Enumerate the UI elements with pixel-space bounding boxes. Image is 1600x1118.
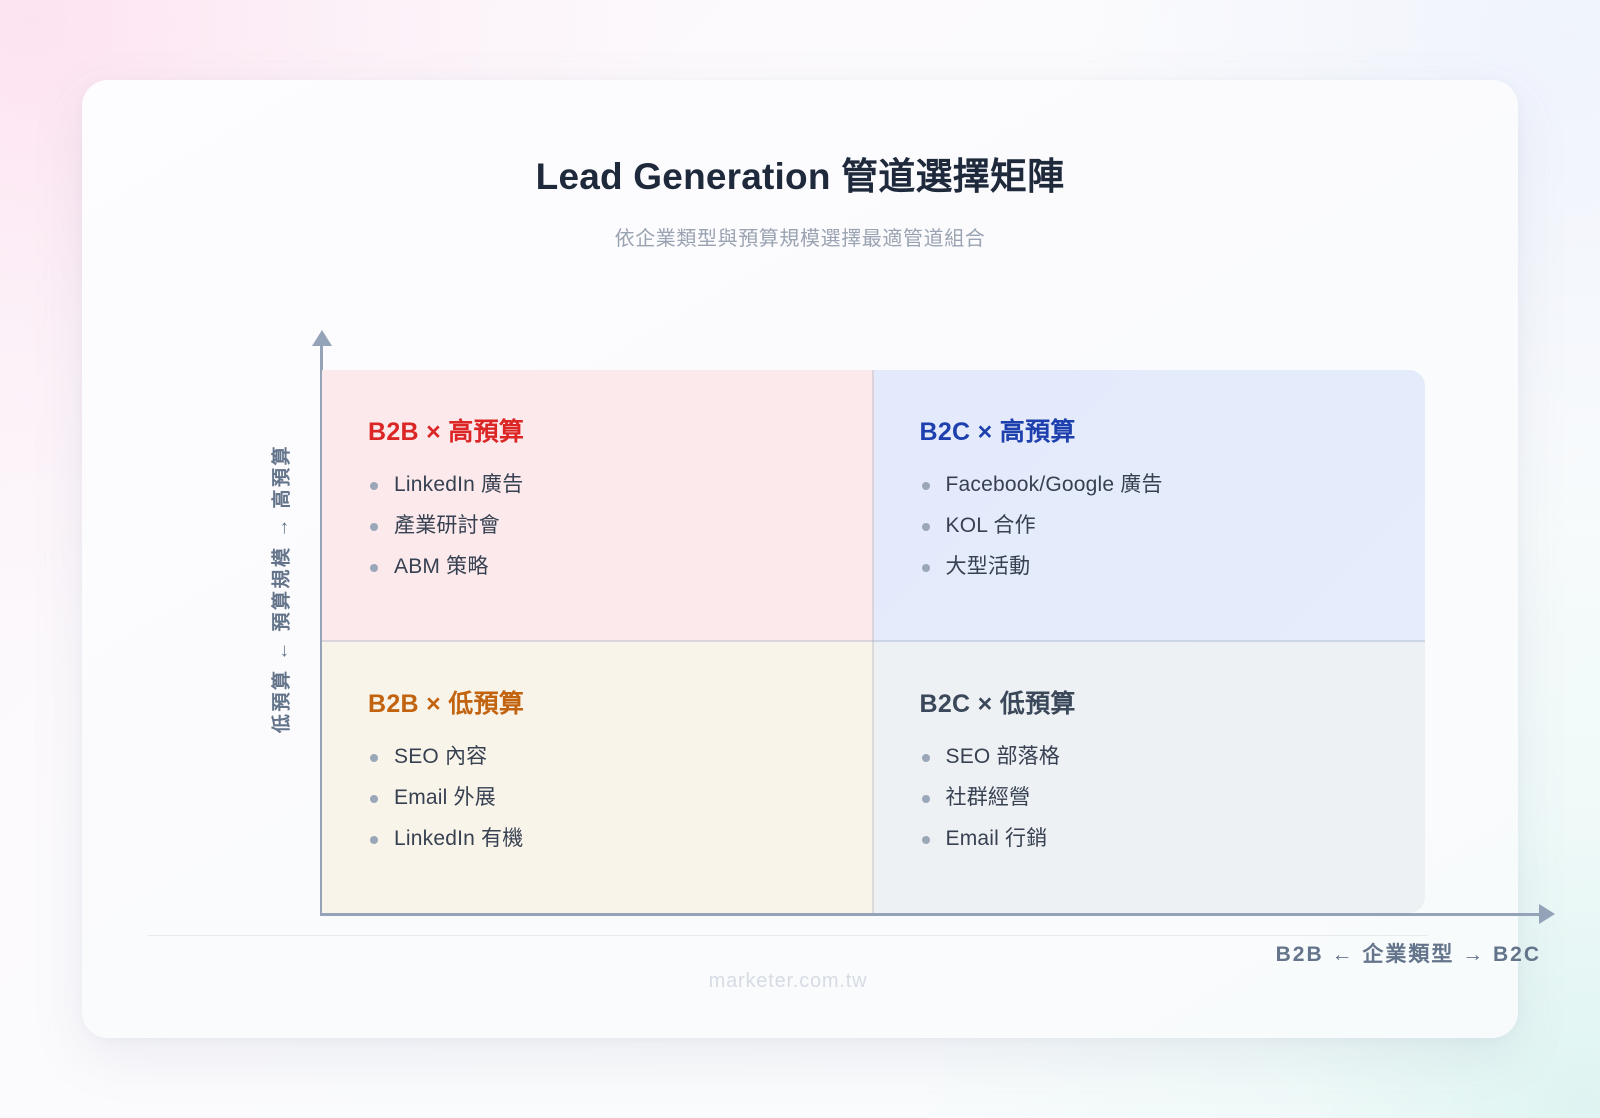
quadrant-title: B2C × 低預算 [920,684,1426,720]
page-subtitle: 依企業類型與預算規模選擇最適管道組合 [82,222,1518,251]
quadrant-title: B2B × 低預算 [368,684,874,720]
x-axis-line [320,913,1541,916]
matrix-card: Lead Generation 管道選擇矩陣 依企業類型與預算規模選擇最適管道組… [82,80,1518,1038]
x-axis-label: B2B ← 企業類型 → B2C [240,938,1541,968]
quadrant-channel-list: Facebook/Google 廣告 KOL 合作 大型活動 [920,474,1426,577]
list-item: Facebook/Google 廣告 [920,474,1426,495]
list-item: 社群經營 [920,787,1426,808]
quadrant-channel-list: SEO 部落格 社群經營 Email 行銷 [920,746,1426,849]
quadrant-title: B2C × 高預算 [920,412,1426,448]
list-item: SEO 部落格 [920,746,1426,767]
footer-site-label: marketer.com.tw [82,970,1494,993]
y-axis-label: 低預算 ← 預算規模 → 高預算 [267,349,294,829]
list-item: Email 行銷 [920,828,1426,849]
quadrant-b2b-high: B2B × 高預算 LinkedIn 廣告 產業研討會 ABM 策略 [322,370,874,642]
list-item: Email 外展 [368,787,874,808]
list-item: LinkedIn 有機 [368,828,874,849]
page-title: Lead Generation 管道選擇矩陣 [82,146,1518,200]
card-header: Lead Generation 管道選擇矩陣 依企業類型與預算規模選擇最適管道組… [82,80,1518,251]
footer-divider [148,935,1428,936]
list-item: 產業研討會 [368,515,874,536]
quadrant-title: B2B × 高預算 [368,412,874,448]
quadrant-b2b-low: B2B × 低預算 SEO 內容 Email 外展 LinkedIn 有機 [322,642,874,914]
quadrant-b2c-high: B2C × 高預算 Facebook/Google 廣告 KOL 合作 大型活動 [874,370,1426,642]
quadrant-channel-list: LinkedIn 廣告 產業研討會 ABM 策略 [368,474,874,577]
list-item: KOL 合作 [920,515,1426,536]
list-item: LinkedIn 廣告 [368,474,874,495]
quadrant-b2c-low: B2C × 低預算 SEO 部落格 社群經營 Email 行銷 [874,642,1426,914]
matrix-chart: 低預算 ← 預算規模 → 高預算 B2B ← 企業類型 → B2C B2B × … [240,290,1425,920]
list-item: SEO 內容 [368,746,874,767]
list-item: 大型活動 [920,556,1426,577]
x-axis-arrow-icon [1539,904,1555,924]
quadrant-channel-list: SEO 內容 Email 外展 LinkedIn 有機 [368,746,874,849]
list-item: ABM 策略 [368,556,874,577]
quadrant-grid: B2B × 高預算 LinkedIn 廣告 產業研討會 ABM 策略 B2C ×… [322,370,1425,913]
